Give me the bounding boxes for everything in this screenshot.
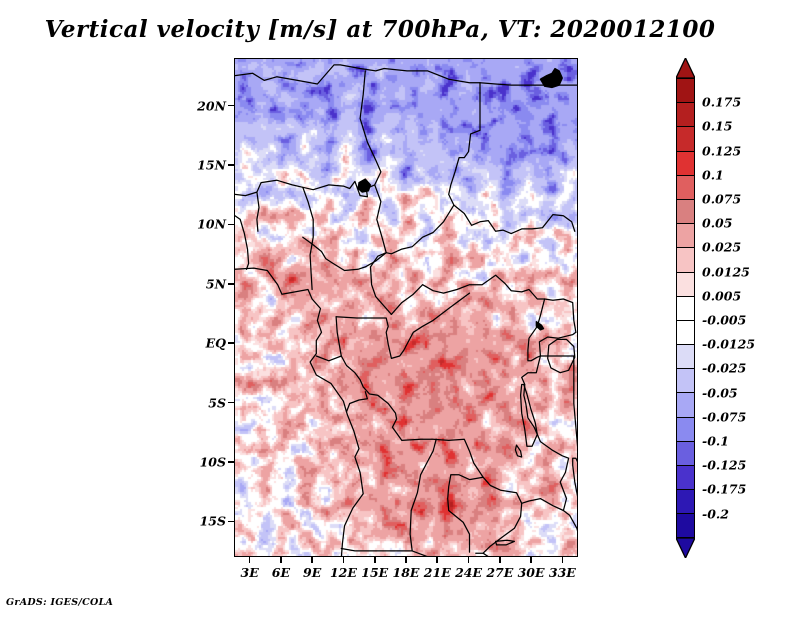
x-axis-tick-label: 3E (241, 565, 259, 580)
colorbar-band (676, 126, 695, 150)
colorbar-band (676, 320, 695, 344)
y-axis-tick (228, 342, 234, 344)
x-axis-tick (343, 557, 345, 563)
y-axis-tick (228, 224, 234, 226)
y-axis-tick-label: EQ (188, 336, 226, 351)
x-axis-tick (405, 557, 407, 563)
y-axis-tick-label: 20N (188, 98, 226, 113)
colorbar: 0.1750.150.1250.10.0750.050.0250.01250.0… (676, 58, 796, 562)
colorbar-band (676, 151, 695, 175)
colorbar-tick-label: -0.05 (702, 385, 738, 400)
x-axis-tick (249, 557, 251, 563)
x-axis-tick (311, 557, 313, 563)
x-axis-tick-label: 12E (330, 565, 357, 580)
colorbar-tick-label: -0.125 (702, 458, 746, 473)
colorbar-bands (676, 78, 695, 538)
x-axis-tick (280, 557, 282, 563)
colorbar-tick-label: -0.005 (702, 313, 746, 328)
y-axis-tick (228, 402, 234, 404)
y-axis-tick (228, 105, 234, 107)
x-axis-tick (499, 557, 501, 563)
colorbar-tick-label: -0.025 (702, 361, 746, 376)
x-axis-tick (530, 557, 532, 563)
colorbar-tick-label: -0.175 (702, 482, 746, 497)
y-axis-tick-label: 15N (188, 157, 226, 172)
colorbar-band (676, 175, 695, 199)
x-axis-tick-label: 24E (455, 565, 482, 580)
colorbar-band (676, 417, 695, 441)
colorbar-band (676, 102, 695, 126)
y-axis-tick-label: 10S (188, 454, 226, 469)
y-axis-tick-label: 5N (188, 276, 226, 291)
colorbar-tick-label: 0.075 (702, 192, 741, 207)
x-axis-tick (436, 557, 438, 563)
colorbar-band (676, 78, 695, 102)
colorbar-tick-label: 0.1 (702, 167, 724, 182)
colorbar-top-arrow-icon (676, 58, 695, 78)
colorbar-tick-label: 0.005 (702, 288, 741, 303)
colorbar-tick-label: 0.125 (702, 143, 741, 158)
y-axis-tick-label: 5S (188, 395, 226, 410)
map-geography-overlay (235, 59, 578, 557)
x-axis-tick-label: 21E (424, 565, 451, 580)
colorbar-band (676, 392, 695, 416)
colorbar-tick-label: -0.1 (702, 434, 729, 449)
x-axis-tick-label: 30E (518, 565, 545, 580)
x-axis-tick-label: 33E (549, 565, 576, 580)
y-axis-tick (228, 164, 234, 166)
map-plot-area (234, 58, 578, 557)
x-axis-tick-label: 27E (486, 565, 513, 580)
colorbar-band (676, 296, 695, 320)
colorbar-bottom-arrow-icon (676, 538, 695, 558)
colorbar-band (676, 344, 695, 368)
colorbar-tick-label: 0.0125 (702, 264, 750, 279)
x-axis-tick (374, 557, 376, 563)
footer-credit: GrADS: IGES/COLA (6, 597, 113, 608)
colorbar-tick-label: 0.15 (702, 119, 732, 134)
colorbar-band (676, 199, 695, 223)
colorbar-tick-label: 0.025 (702, 240, 741, 255)
x-axis-tick-label: 6E (272, 565, 290, 580)
colorbar-tick-label: -0.075 (702, 409, 746, 424)
x-axis-tick (468, 557, 470, 563)
colorbar-tick-label: -0.0125 (702, 337, 755, 352)
y-axis-tick (228, 521, 234, 523)
colorbar-tick-label: 0.175 (702, 95, 741, 110)
colorbar-band (676, 489, 695, 513)
x-axis-tick-label: 15E (361, 565, 388, 580)
y-axis-tick (228, 461, 234, 463)
colorbar-tick-label: 0.05 (702, 216, 732, 231)
x-axis-tick-label: 9E (303, 565, 321, 580)
x-axis-tick-label: 18E (393, 565, 420, 580)
y-axis-tick-label: 15S (188, 514, 226, 529)
colorbar-band (676, 368, 695, 392)
x-axis-tick (562, 557, 564, 563)
colorbar-band (676, 223, 695, 247)
y-axis-tick-label: 10N (188, 217, 226, 232)
colorbar-band (676, 441, 695, 465)
y-axis-tick (228, 283, 234, 285)
colorbar-band (676, 513, 695, 537)
page-title: Vertical velocity [m/s] at 700hPa, VT: 2… (0, 16, 760, 43)
colorbar-band (676, 272, 695, 296)
colorbar-tick-label: -0.2 (702, 506, 729, 521)
colorbar-band (676, 465, 695, 489)
colorbar-band (676, 247, 695, 271)
